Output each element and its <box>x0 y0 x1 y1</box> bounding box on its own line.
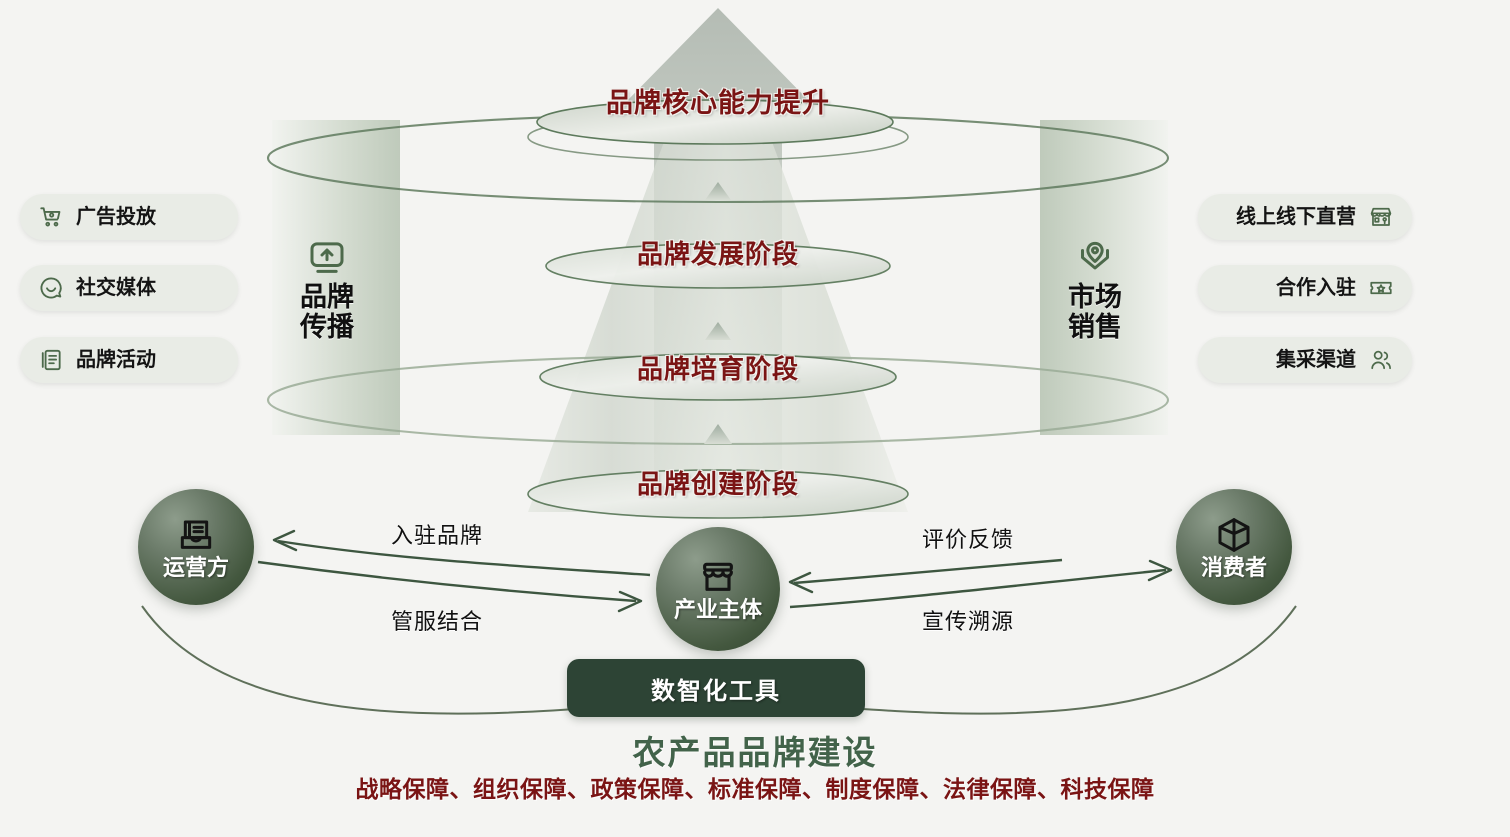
pyramid-stage-label-2: 品牌培育阶段 <box>508 349 928 386</box>
node-operator[interactable]: 运营方 <box>138 489 254 605</box>
upload-screen-icon <box>307 238 347 278</box>
pill-label: 品牌活动 <box>76 350 156 370</box>
ticket-star-icon <box>1368 275 1394 301</box>
pill-label: 社交媒体 <box>76 278 156 298</box>
flow-caption-management-service: 管服结合 <box>327 604 547 636</box>
pill-online-offline-direct[interactable]: 线上线下直营 <box>1198 194 1412 240</box>
flow-caption-evaluation-feedback: 评价反馈 <box>858 522 1078 554</box>
pyramid-stage-label-1: 品牌发展阶段 <box>508 234 928 271</box>
footer-guarantees: 战略保障、组织保障、政策保障、标准保障、制度保障、法律保障、科技保障 <box>0 770 1510 804</box>
pill-label: 线上线下直营 <box>1236 207 1356 227</box>
storefront-icon <box>1368 204 1394 230</box>
right-ribbon-market-sales: 市场 销售 <box>1040 238 1150 342</box>
pill-ad-placement[interactable]: 广告投放 <box>20 194 238 240</box>
flow-caption-promotion-traceability: 宣传溯源 <box>858 604 1078 636</box>
archive-book-icon <box>176 515 216 555</box>
shopping-cart-icon <box>38 204 64 230</box>
document-list-icon <box>38 347 64 373</box>
footer-title: 农产品品牌建设 <box>0 726 1510 774</box>
people-group-icon <box>1368 347 1394 373</box>
pill-cooperative-entry[interactable]: 合作入驻 <box>1198 265 1412 311</box>
pill-label: 广告投放 <box>76 207 156 227</box>
pill-label: 合作入驻 <box>1276 278 1356 298</box>
left-ribbon-title-line2: 传播 <box>300 312 354 342</box>
pyramid-apex-label: 品牌核心能力提升 <box>508 81 928 120</box>
node-industry-entity[interactable]: 产业主体 <box>656 527 780 651</box>
left-ribbon-title-line1: 品牌 <box>300 282 354 312</box>
digital-intelligence-tool-box[interactable]: 数智化工具 <box>567 659 865 717</box>
pyramid-stage-label-3: 品牌创建阶段 <box>508 464 928 501</box>
diagram-canvas: 品牌核心能力提升 品牌发展阶段 品牌培育阶段 品牌创建阶段 品牌 传播 市场 销… <box>0 0 1510 837</box>
pill-brand-activity[interactable]: 品牌活动 <box>20 337 238 383</box>
pill-label: 集采渠道 <box>1276 350 1356 370</box>
storefront-icon <box>698 557 738 597</box>
pill-group-purchase-channel[interactable]: 集采渠道 <box>1198 337 1412 383</box>
right-ribbon-title-line2: 销售 <box>1068 312 1122 342</box>
pill-social-media[interactable]: 社交媒体 <box>20 265 238 311</box>
flow-caption-brand-entry: 入驻品牌 <box>327 518 547 550</box>
node-label: 产业主体 <box>674 599 762 621</box>
map-pin-icon <box>1075 238 1115 278</box>
node-label: 消费者 <box>1201 557 1267 579</box>
node-label: 运营方 <box>163 557 229 579</box>
chat-bubble-icon <box>38 275 64 301</box>
left-ribbon-brand-communication: 品牌 传播 <box>272 238 382 342</box>
cube-3d-icon <box>1214 515 1254 555</box>
right-ribbon-title-line1: 市场 <box>1068 282 1122 312</box>
node-consumer[interactable]: 消费者 <box>1176 489 1292 605</box>
tool-box-label: 数智化工具 <box>651 671 781 706</box>
